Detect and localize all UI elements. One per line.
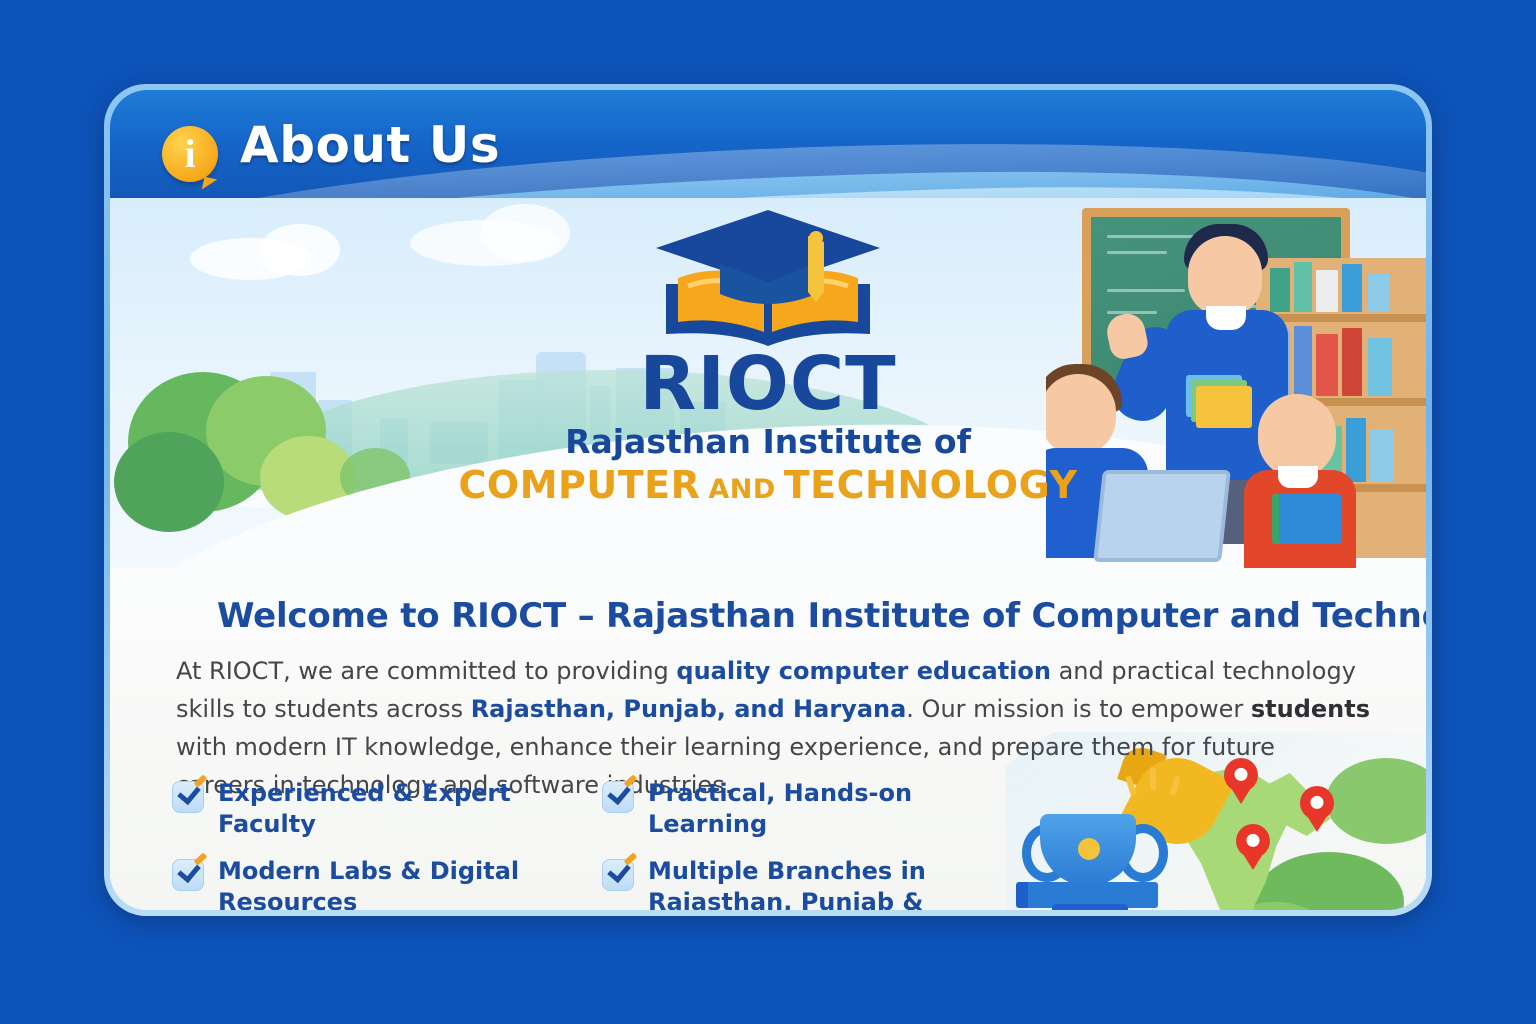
feature-item: Multiple Branches in Rajasthan, Punjab &… xyxy=(602,856,1032,910)
logo-subtitle: Rajasthan Institute of xyxy=(565,422,971,461)
logo-tagline-and: AND xyxy=(708,474,775,505)
feature-item: Modern Labs & Digital Resources xyxy=(172,856,602,910)
paragraph-highlight-students: students xyxy=(1251,695,1370,723)
paragraph-highlight-quality-education: quality computer education xyxy=(676,657,1051,685)
logo-tagline: COMPUTERANDTECHNOLOGY xyxy=(459,463,1078,507)
logo-acronym: RIOCT xyxy=(639,350,896,418)
trophy-star xyxy=(1078,838,1100,860)
about-content: Welcome to RIOCT – Rajasthan Institute o… xyxy=(110,568,1426,910)
page-title: About Us xyxy=(240,116,500,174)
welcome-heading: Welcome to RIOCT – Rajasthan Institute o… xyxy=(217,596,1426,636)
checkbox-check-icon xyxy=(602,859,634,891)
logo-tagline-computer: COMPUTER xyxy=(459,463,701,507)
checkbox-check-icon xyxy=(602,781,634,813)
feature-label: Modern Labs & Digital Resources xyxy=(218,856,602,910)
logo-tagline-technology: TECHNOLOGY xyxy=(784,463,1078,507)
info-bubble-icon: i xyxy=(162,126,218,182)
paragraph-segment: . Our mission is to empower xyxy=(906,695,1251,723)
about-us-card-frame: i About Us xyxy=(104,84,1432,916)
map-pin-icon xyxy=(1236,824,1270,858)
feature-label: Practical, Hands-on Learning xyxy=(648,778,1032,840)
feature-label: Multiple Branches in Rajasthan, Punjab &… xyxy=(648,856,1032,910)
feature-list: Experienced & Expert Faculty Practical, … xyxy=(172,778,1032,910)
hero-banner: RIOCT Rajasthan Institute of COMPUTERAND… xyxy=(110,198,1426,582)
feature-item: Practical, Hands-on Learning xyxy=(602,778,1032,840)
paragraph-segment: At RIOCT, we are committed to providing xyxy=(176,657,676,685)
about-us-card: i About Us xyxy=(110,90,1426,910)
paragraph-highlight-states: Rajasthan, Punjab, and Haryana xyxy=(471,695,907,723)
info-icon-letter: i xyxy=(162,126,218,182)
page-root: i About Us xyxy=(0,0,1536,1024)
checkbox-check-icon xyxy=(172,859,204,891)
feature-item: Experienced & Expert Faculty xyxy=(172,778,602,840)
feature-label: Experienced & Expert Faculty xyxy=(218,778,602,840)
riot-logo: RIOCT Rajasthan Institute of COMPUTERAND… xyxy=(110,198,1426,507)
card-header: i About Us xyxy=(110,90,1426,208)
graduation-cap-book-icon xyxy=(648,206,888,356)
checkbox-check-icon xyxy=(172,781,204,813)
